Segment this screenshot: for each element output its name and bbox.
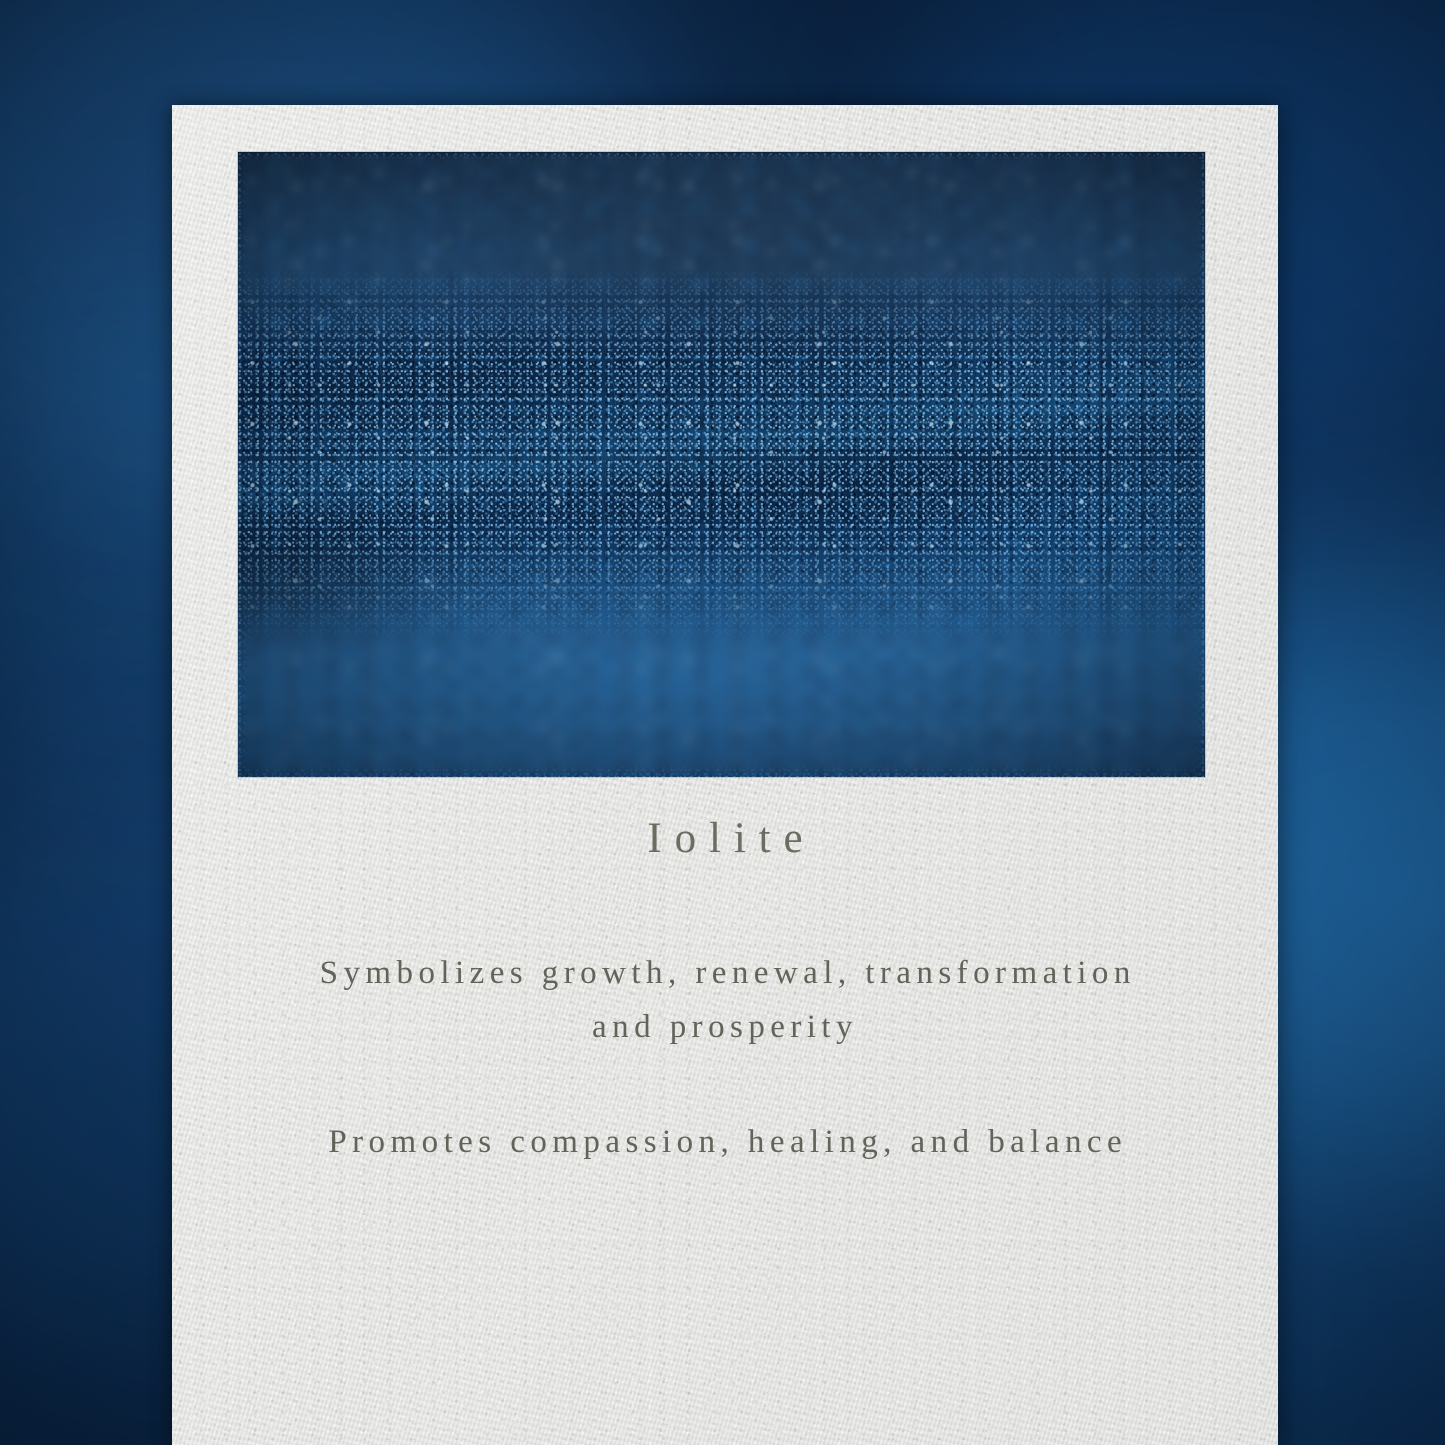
crystal-meaning-card: Iolite Symbolizes growth, renewal, trans… xyxy=(172,105,1278,1445)
photo-vignette xyxy=(238,152,1205,777)
crystal-photo xyxy=(238,152,1205,777)
crystal-meaning-line-1: Symbolizes growth, renewal, transformati… xyxy=(295,947,1155,1054)
poster-canvas: Iolite Symbolizes growth, renewal, trans… xyxy=(0,0,1445,1445)
card-text-block: Iolite Symbolizes growth, renewal, trans… xyxy=(172,815,1278,1170)
crystal-meaning-line-2: Promotes compassion, healing, and balanc… xyxy=(295,1116,1155,1169)
crystal-name-title: Iolite xyxy=(172,815,1278,862)
